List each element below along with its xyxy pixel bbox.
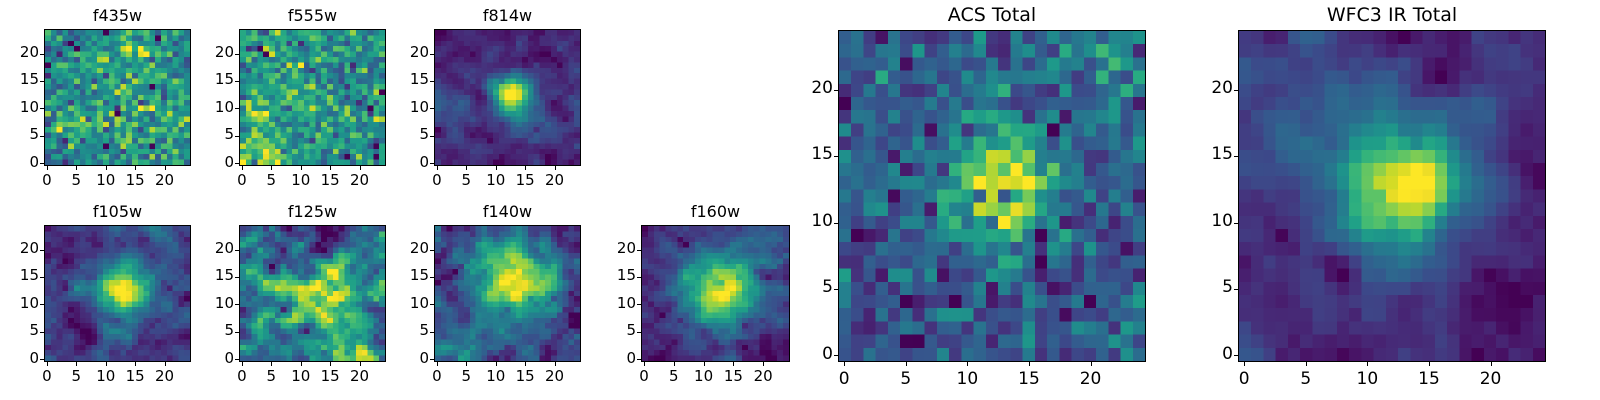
x-tick-label-wfc3-ir-total-20: 20 — [1461, 371, 1521, 388]
x-tick-label-wfc3-ir-total-5: 5 — [1276, 371, 1336, 388]
y-tick-wfc3-ir-total-10 — [1234, 223, 1238, 224]
heatmap-image-wfc3-ir-total — [1239, 31, 1545, 361]
x-tick-label-wfc3-ir-total-0: 0 — [1214, 371, 1274, 388]
y-tick-label-wfc3-ir-total-5: 5 — [1173, 279, 1233, 296]
y-tick-wfc3-ir-total-15 — [1234, 156, 1238, 157]
x-tick-wfc3-ir-total-0 — [1244, 362, 1245, 366]
x-tick-wfc3-ir-total-10 — [1367, 362, 1368, 366]
x-tick-wfc3-ir-total-20 — [1491, 362, 1492, 366]
x-tick-wfc3-ir-total-15 — [1429, 362, 1430, 366]
y-tick-label-wfc3-ir-total-10: 10 — [1173, 213, 1233, 230]
figure-canvas: f435w0510152005101520f555w05101520051015… — [0, 0, 1600, 400]
panel-title-wfc3-ir-total: WFC3 IR Total — [1238, 6, 1546, 25]
y-tick-wfc3-ir-total-0 — [1234, 355, 1238, 356]
y-tick-wfc3-ir-total-20 — [1234, 90, 1238, 91]
y-tick-label-wfc3-ir-total-15: 15 — [1173, 146, 1233, 163]
x-tick-label-wfc3-ir-total-10: 10 — [1337, 371, 1397, 388]
y-tick-label-wfc3-ir-total-0: 0 — [1173, 346, 1233, 363]
y-tick-label-wfc3-ir-total-20: 20 — [1173, 80, 1233, 97]
panel-wfc3-ir-total: WFC3 IR Total0510152005101520 — [0, 0, 1600, 400]
x-tick-label-wfc3-ir-total-15: 15 — [1399, 371, 1459, 388]
x-tick-wfc3-ir-total-5 — [1306, 362, 1307, 366]
y-tick-wfc3-ir-total-5 — [1234, 289, 1238, 290]
heatmap-axes-wfc3-ir-total — [1238, 30, 1546, 362]
